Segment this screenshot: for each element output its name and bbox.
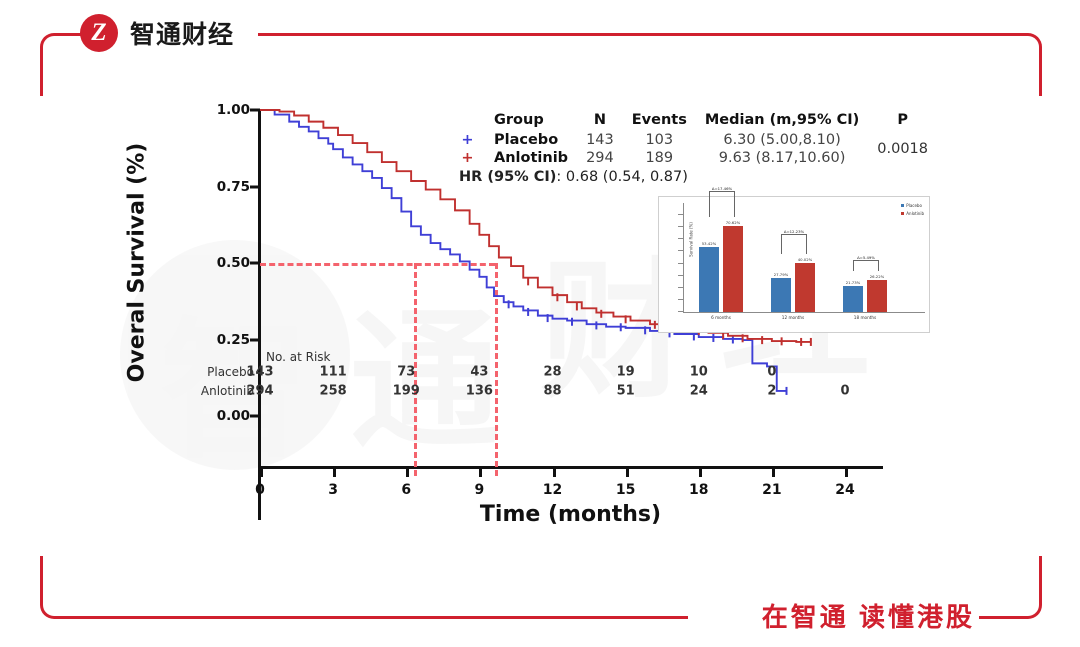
y-tick-mark [250, 262, 260, 265]
inset-delta-label: Δ=17.46% [712, 186, 732, 192]
logo-icon: Z [80, 14, 118, 52]
x-tick-mark [699, 466, 702, 477]
y-tick-label: 0.25 [217, 332, 250, 348]
risk-value: 111 [320, 365, 347, 380]
legend-n-placebo: 143 [577, 131, 623, 149]
x-axis-title: Time (months) [258, 502, 883, 527]
y-tick-mark [250, 185, 260, 188]
inset-y-tick [678, 275, 683, 276]
risk-value: 2 [767, 384, 776, 399]
inset-delta-bracket: Δ=5.49% [853, 260, 879, 271]
y-tick-label: 0.75 [217, 179, 250, 195]
chart-legend: Group N Events Median (m,95% CI) P + Pla… [450, 112, 937, 185]
km-survival-figure: Overal Survival (%) Time (months) 0.000.… [150, 100, 940, 540]
x-axis-line [258, 466, 883, 469]
risk-value: 294 [246, 384, 273, 399]
risk-table-title: No. at Risk [266, 350, 330, 364]
inset-delta-label: Δ=12.23% [784, 229, 804, 235]
inset-bar-anlotinib: 26.22% [867, 280, 887, 312]
inset-legend-label-placebo: Placebo [906, 202, 922, 210]
x-tick-label: 24 [835, 482, 854, 498]
inset-y-axis-title: Survival Rate (%) [689, 210, 694, 270]
inset-y-tick [678, 287, 683, 288]
risk-value: 73 [397, 365, 415, 380]
inset-legend-label-anlotinib: Anlotinib [906, 210, 924, 218]
brand-name: 智通财经 [130, 15, 234, 51]
legend-header-median: Median (m,95% CI) [696, 112, 868, 131]
inset-legend-swatch-placebo-icon [901, 204, 904, 207]
risk-value: 0 [840, 384, 849, 399]
inset-bar-group: 53.42%70.62%Δ=17.46%6 months [699, 215, 743, 312]
x-tick-mark [333, 466, 336, 477]
y-tick-mark [250, 415, 260, 418]
inset-bar-value: 53.42% [702, 241, 716, 247]
inset-legend-placebo: Placebo [901, 202, 924, 210]
risk-value: 28 [543, 365, 561, 380]
risk-value: 43 [470, 365, 488, 380]
legend-name-placebo: Placebo [485, 131, 577, 149]
risk-value: 24 [690, 384, 708, 399]
legend-n-anlotinib: 294 [577, 149, 623, 167]
inset-bar-value: 21.73% [846, 280, 860, 286]
legend-header-group: Group [485, 112, 577, 131]
inset-bar-group: 21.73%26.22%Δ=5.49%18 months [843, 215, 887, 312]
y-tick-label: 1.00 [217, 102, 250, 118]
frame-edge-bottom [98, 616, 688, 619]
hazard-ratio-label: HR (95% CI) [459, 169, 556, 185]
inset-bar-group: 27.79%40.02%Δ=12.23%12 months [771, 215, 815, 312]
risk-value: 258 [320, 384, 347, 399]
inset-y-tick [678, 214, 683, 215]
inset-legend: Placebo Anlotinib [901, 202, 924, 217]
inset-y-axis [683, 203, 684, 313]
inset-category-label: 18 months [854, 312, 876, 320]
inset-y-tick [678, 250, 683, 251]
legend-events-placebo: 103 [623, 131, 696, 149]
y-tick-label: 0.00 [217, 408, 250, 424]
legend-marker-placebo-icon: + [450, 131, 485, 149]
footer-slogan: 在智通 读懂港股 [762, 597, 975, 634]
inset-legend-swatch-anlotinib-icon [901, 212, 904, 215]
x-tick-mark [406, 466, 409, 477]
inset-bar-placebo: 53.42% [699, 247, 719, 312]
x-tick-label: 15 [616, 482, 635, 498]
risk-value: 199 [393, 384, 420, 399]
x-tick-mark [553, 466, 556, 477]
inset-category-label: 12 months [782, 312, 804, 320]
frame-corner-bottom-right [979, 556, 1042, 619]
x-tick-label: 21 [762, 482, 781, 498]
inset-bar-anlotinib: 40.02% [795, 263, 815, 312]
inset-bar-chart: Survival Rate (%) 53.42%70.62%Δ=17.46%6 … [658, 196, 930, 333]
inset-y-tick [678, 226, 683, 227]
brand-header: Z 智通财经 [80, 14, 234, 52]
risk-value: 51 [617, 384, 635, 399]
inset-y-tick [678, 263, 683, 264]
inset-bar-placebo: 21.73% [843, 286, 863, 312]
risk-value: 136 [466, 384, 493, 399]
x-tick-mark [626, 466, 629, 477]
inset-bar-value: 26.22% [870, 274, 884, 280]
legend-median-anlotinib: 9.63 (8.17,10.60) [696, 149, 868, 167]
inset-category-label: 6 months [711, 312, 731, 320]
legend-row-anlotinib: + Anlotinib 294 189 9.63 (8.17,10.60) [450, 149, 937, 167]
x-tick-mark [479, 466, 482, 477]
y-tick-mark [250, 338, 260, 341]
legend-header-n: N [577, 112, 623, 131]
inset-y-tick [678, 311, 683, 312]
legend-p-value: 0.0018 [868, 131, 937, 167]
legend-events-anlotinib: 189 [623, 149, 696, 167]
hazard-ratio-value: : 0.68 (0.54, 0.87) [556, 169, 688, 185]
inset-bar-placebo: 27.79% [771, 278, 791, 312]
risk-value: 88 [543, 384, 561, 399]
legend-median-placebo: 6.30 (5.00,8.10) [696, 131, 868, 149]
x-tick-label: 0 [255, 482, 265, 498]
inset-bar-value: 70.62% [726, 220, 740, 226]
inset-bar-anlotinib: 70.62% [723, 226, 743, 312]
inset-delta-bracket: Δ=12.23% [781, 234, 807, 255]
x-tick-mark [260, 466, 263, 477]
x-tick-label: 18 [689, 482, 708, 498]
x-tick-mark [772, 466, 775, 477]
risk-value: 0 [767, 365, 776, 380]
risk-value: 10 [690, 365, 708, 380]
risk-value: 143 [246, 365, 273, 380]
hazard-ratio-line: HR (95% CI): 0.68 (0.54, 0.87) [450, 169, 937, 185]
y-tick-mark [250, 109, 260, 112]
inset-bar-value: 40.02% [798, 257, 812, 263]
frame-corner-top-right [979, 33, 1042, 96]
y-axis-title: Overal Survival (%) [125, 98, 150, 428]
legend-header-events: Events [623, 112, 696, 131]
inset-bar-value: 27.79% [774, 272, 788, 278]
y-tick-label: 0.50 [217, 255, 250, 271]
legend-mark-header [450, 112, 485, 131]
x-tick-label: 12 [543, 482, 562, 498]
x-tick-label: 6 [401, 482, 411, 498]
legend-row-placebo: + Placebo 143 103 6.30 (5.00,8.10) 0.001… [450, 131, 937, 149]
inset-delta-label: Δ=5.49% [857, 255, 875, 261]
x-tick-label: 9 [475, 482, 485, 498]
x-tick-mark [845, 466, 848, 477]
risk-value: 19 [617, 365, 635, 380]
inset-y-tick [678, 238, 683, 239]
x-tick-label: 3 [328, 482, 338, 498]
inset-delta-bracket: Δ=17.46% [709, 191, 735, 218]
inset-legend-anlotinib: Anlotinib [901, 210, 924, 218]
inset-y-tick [678, 299, 683, 300]
frame-corner-bottom-left [40, 556, 103, 619]
frame-edge-top [258, 33, 982, 36]
legend-marker-anlotinib-icon: + [450, 149, 485, 167]
legend-name-anlotinib: Anlotinib [485, 149, 577, 167]
legend-header-p: P [868, 112, 937, 131]
